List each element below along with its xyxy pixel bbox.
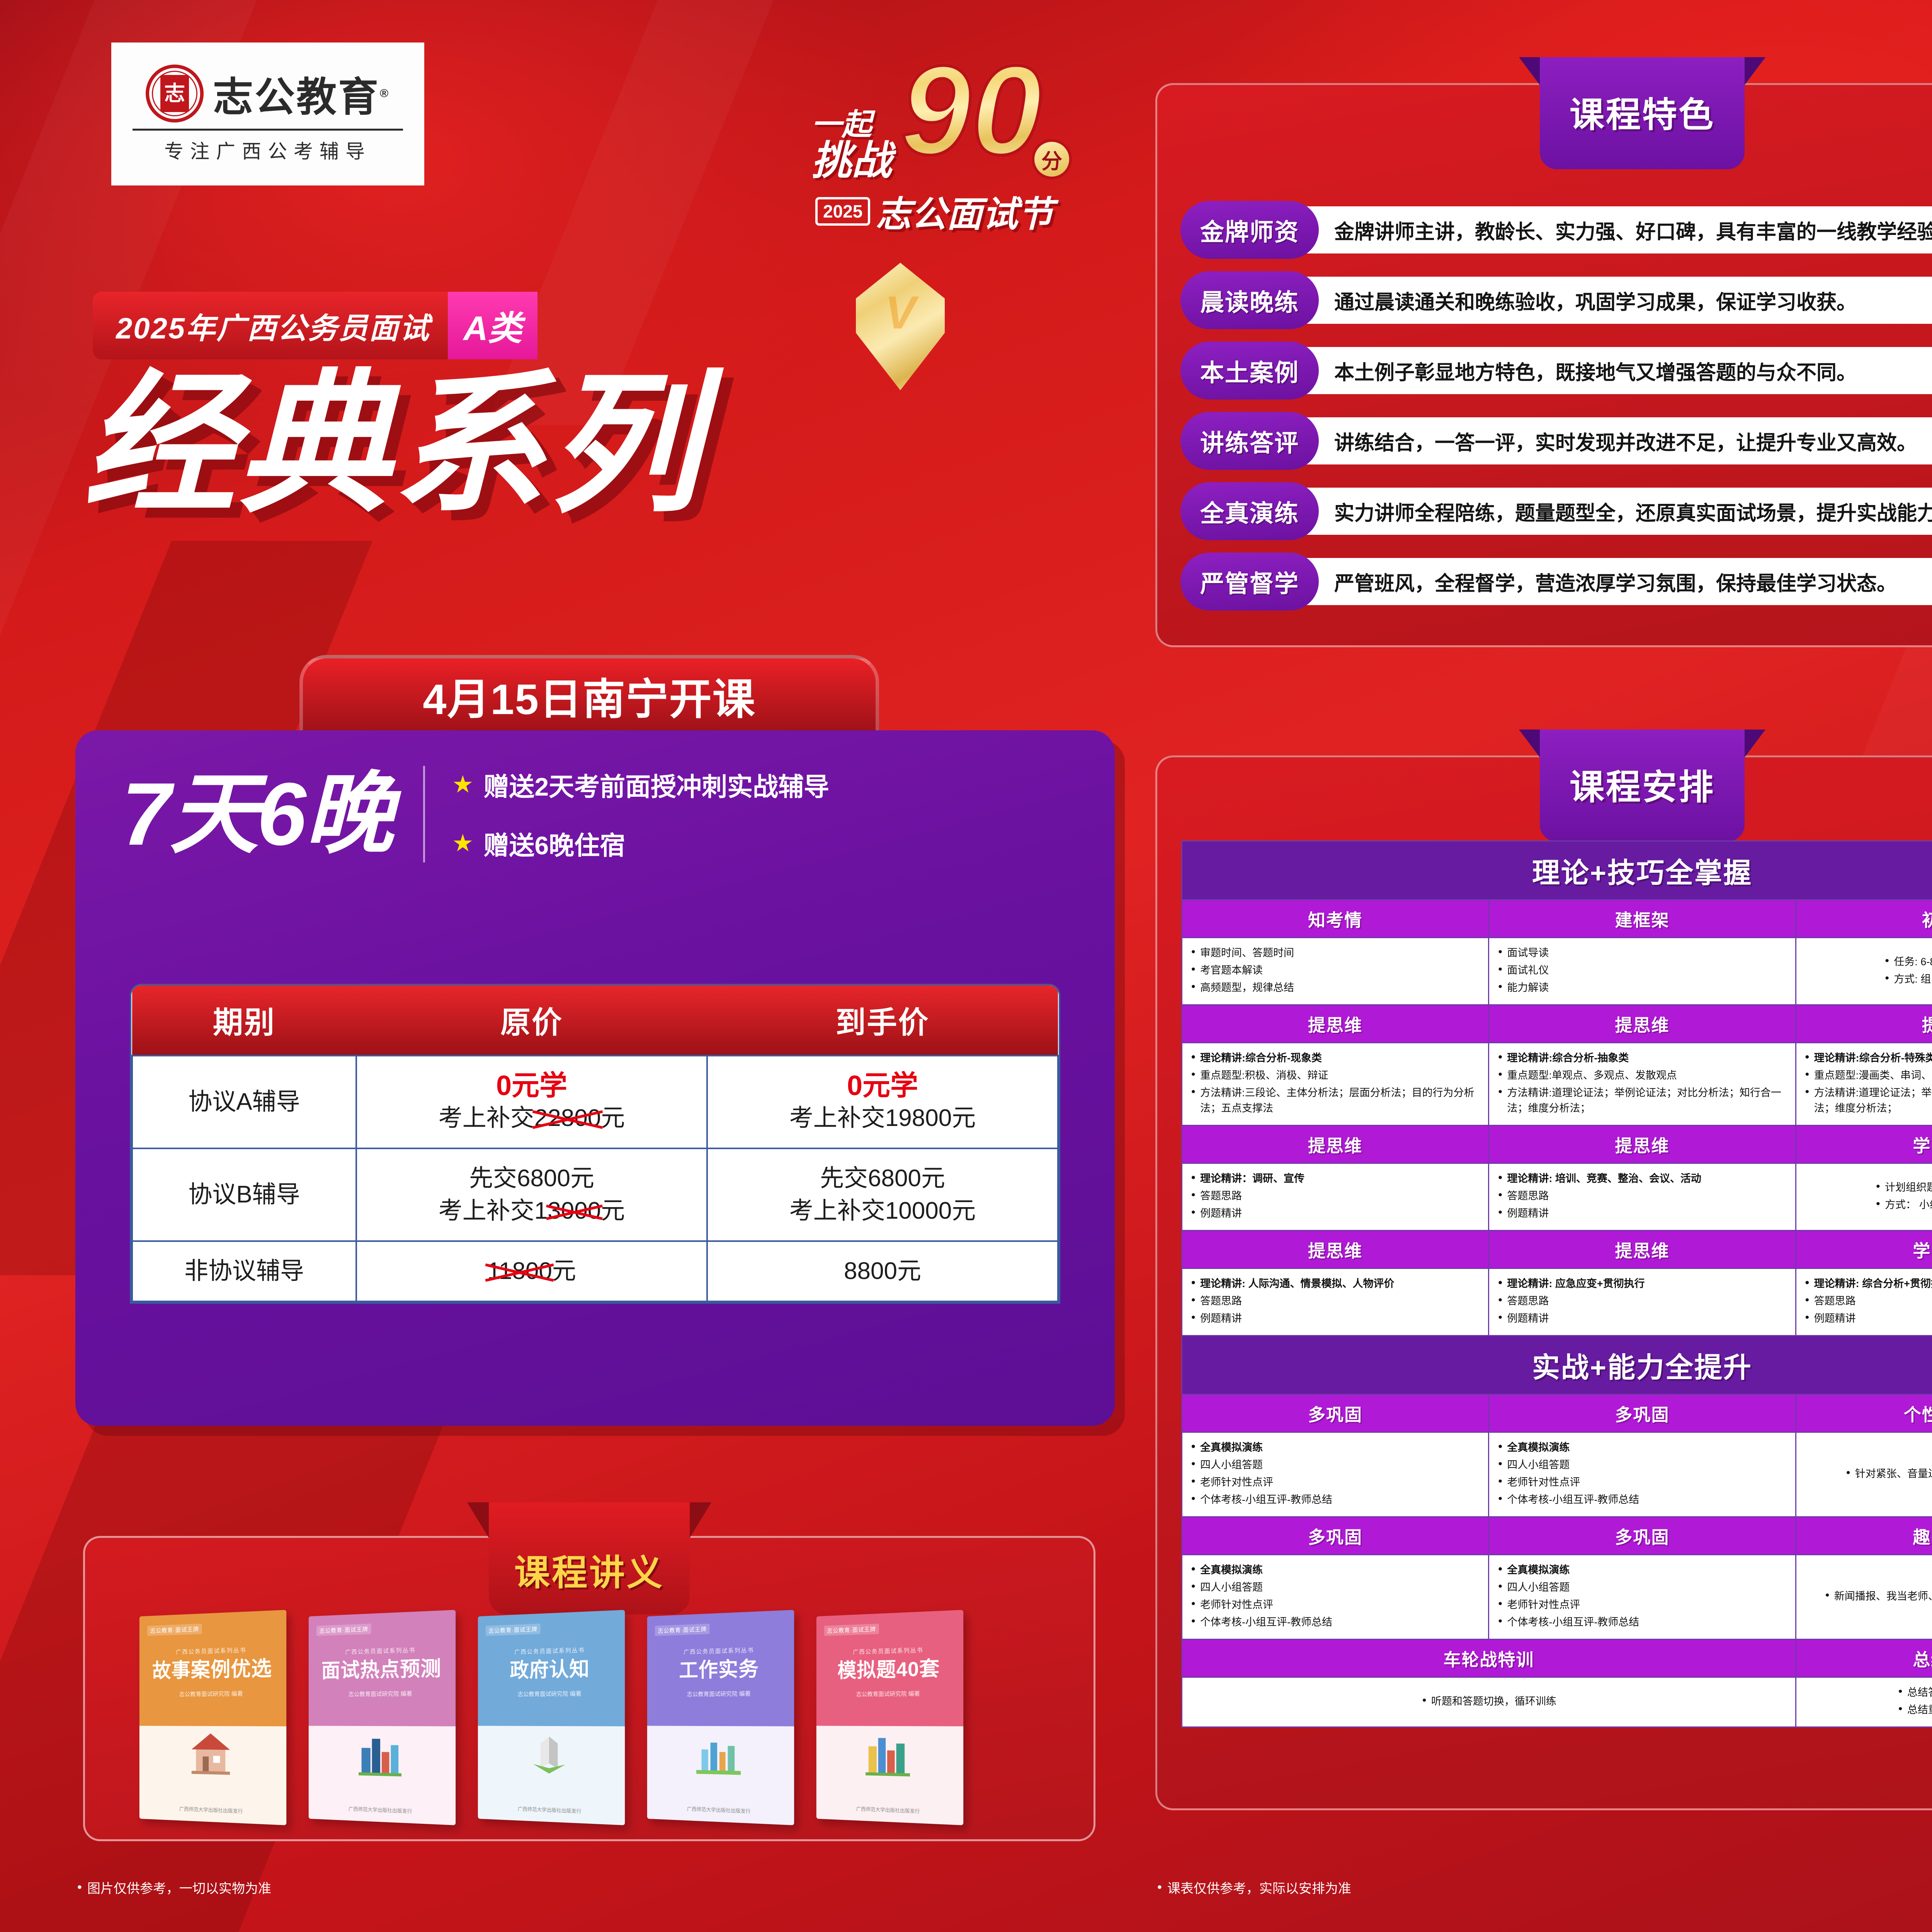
table-row: 协议A辅导 0元学 考上补交22800元 0元学 考上补交19800元 bbox=[132, 1056, 1058, 1148]
schedule-head-row: 多巩固多巩固趣味训练 bbox=[1182, 1517, 1932, 1555]
schedule-bullet: 听题和答题切换，循环训练 bbox=[1421, 1694, 1556, 1709]
bullet-list: 理论精讲:综合分析-特殊类、自我认知重点题型:漫画类、串词、演讲等方法精讲:道理… bbox=[1804, 1050, 1932, 1116]
course-features-tab: 课程特色 bbox=[1540, 57, 1745, 169]
badge-score-number: 90 bbox=[900, 46, 1042, 174]
feature-text: 本土例子彰显地方特色，既接地气又增强答题的与众不同。 bbox=[1334, 356, 1857, 385]
footer-left-text: 图片仅供参考，一切以实物为准 bbox=[87, 1878, 271, 1897]
book-eyebrow: 广西公务员面试系列丛书 bbox=[316, 1645, 447, 1657]
bullet-list: 任务: 6-8道方式: 组内答题，老师讲解 bbox=[1884, 954, 1932, 989]
schedule-bullet: 重点题型:单观点、多观点、发散观点 bbox=[1497, 1068, 1787, 1083]
logo-seal-char: 志 bbox=[160, 75, 189, 112]
feature-tag: 晨读晚练 bbox=[1180, 271, 1319, 329]
bullet-list: 审题时间、答题时间考官题本解读高频题型，规律总结 bbox=[1190, 945, 1480, 995]
schedule-bullet: 四人小组答题 bbox=[1190, 1457, 1480, 1473]
schedule-bullet: 理论精讲: 人际沟通、情景模拟、人物评价 bbox=[1190, 1276, 1480, 1291]
book-eyebrow: 广西公务员面试系列丛书 bbox=[655, 1645, 785, 1657]
feature-row: 晨读晚练通过晨读通关和晚练验收，巩固学习成果，保证学习收获。 bbox=[1180, 271, 1932, 329]
cell-final-price: 8800元 bbox=[707, 1241, 1058, 1301]
bullet-list: 面试导读面试礼仪能力解读 bbox=[1497, 945, 1787, 995]
package-duration: 7天6晚 bbox=[122, 770, 392, 859]
book-byline: 志公教育面试研究院 编著 bbox=[486, 1689, 616, 1698]
schedule-col-head: 个性化训练 bbox=[1796, 1395, 1932, 1432]
divider bbox=[423, 766, 425, 862]
feature-body: 通过晨读通关和晚练验收，巩固学习成果，保证学习收获。 bbox=[1296, 277, 1932, 324]
schedule-bullet: 老师针对性点评 bbox=[1190, 1475, 1480, 1490]
schedule-cell: 理论精讲: 综合分析+贯彻执行答题思路例题精讲 bbox=[1796, 1269, 1932, 1336]
bullet-list: 理论精讲:综合分析-现象类重点题型:积极、消极、辩证方法精讲:三段论、主体分析法… bbox=[1190, 1050, 1480, 1116]
schedule-bullet: 例题精讲 bbox=[1190, 1206, 1480, 1221]
feature-tag-label: 晨读晚练 bbox=[1200, 283, 1299, 318]
schedule-col-head: 知考情 bbox=[1182, 900, 1489, 938]
feature-tag-label: 讲练答评 bbox=[1200, 423, 1299, 458]
zero-badge: 0元学 bbox=[714, 1070, 1051, 1102]
bullet-list: 全真模拟演练四人小组答题老师针对性点评个体考核-小组互评-教师总结 bbox=[1190, 1562, 1480, 1630]
schedule-col-head: 提思维 bbox=[1182, 1005, 1489, 1043]
price-unit: 元 bbox=[601, 1105, 625, 1131]
bonus-label: 赠送2天考前面授冲刺实战辅导 bbox=[483, 766, 829, 803]
schedule-bullet: 四人小组答题 bbox=[1190, 1580, 1480, 1595]
badge-year: 2025 bbox=[815, 197, 870, 226]
schedule-col-head: 多巩固 bbox=[1182, 1395, 1489, 1432]
campaign-badge: 一起 挑战 90 分 2025 志公面试节 bbox=[804, 43, 1097, 232]
book-publisher: 广西师范大学出版社出版发行 bbox=[816, 1803, 963, 1816]
book-brand-logo: 志公教育·面试王牌 bbox=[655, 1624, 710, 1636]
schedule-body-row: 理论精讲:综合分析-现象类重点题型:积极、消极、辩证方法精讲:三段论、主体分析法… bbox=[1182, 1043, 1932, 1126]
schedule-bullet: 任务: 6-8道 bbox=[1884, 954, 1932, 969]
course-materials-ribbon: 课程讲义 bbox=[489, 1502, 690, 1614]
schedule-bullet: 全真模拟演练 bbox=[1497, 1562, 1787, 1578]
feature-list: 金牌师资金牌讲师主讲，教龄长、实力强、好口碑，具有丰富的一线教学经验。晨读晚练通… bbox=[1180, 201, 1932, 611]
schedule-bullet: 答题思路 bbox=[1497, 1293, 1787, 1309]
logo-tagline: 专注广西公考辅导 bbox=[164, 136, 371, 164]
price-table: 期别 原价 到手价 协议A辅导 0元学 考上补交22800元 0元学 考上补交1… bbox=[131, 985, 1059, 1302]
feature-body: 严管班风，全程督学，营造浓厚学习氛围，保持最佳学习状态。 bbox=[1296, 558, 1932, 605]
book-eyebrow: 广西公务员面试系列丛书 bbox=[147, 1645, 277, 1657]
price-line1: 先交6800元 bbox=[363, 1162, 700, 1195]
col-header-original: 原价 bbox=[356, 985, 707, 1056]
bonus-label: 赠送6晚住宿 bbox=[483, 825, 625, 862]
feature-body: 实力讲师全程陪练，题量题型全，还原真实面试场景，提升实战能力。 bbox=[1296, 488, 1932, 535]
schedule-bullet: 答题思路 bbox=[1804, 1293, 1932, 1309]
schedule-bullet: 理论精讲: 综合分析+贯彻执行 bbox=[1804, 1276, 1932, 1291]
schedule-cell: 针对紧张、音量过小、怯场等个性问题训练 bbox=[1796, 1432, 1932, 1517]
table-row: 协议B辅导 先交6800元 考上补交13000元 先交6800元 考上补交100… bbox=[132, 1148, 1058, 1241]
schedule-body-row: 全真模拟演练四人小组答题老师针对性点评个体考核-小组互评-教师总结全真模拟演练四… bbox=[1182, 1555, 1932, 1639]
schedule-cell: 全真模拟演练四人小组答题老师针对性点评个体考核-小组互评-教师总结 bbox=[1182, 1432, 1489, 1517]
schedule-cell: 理论精讲:综合分析-现象类重点题型:积极、消极、辩证方法精讲:三段论、主体分析法… bbox=[1182, 1043, 1489, 1126]
price-note-prefix: 考上补交1 bbox=[439, 1197, 548, 1224]
book-byline: 志公教育面试研究院 编著 bbox=[824, 1689, 954, 1698]
schedule-bullet: 重点题型:漫画类、串词、演讲等 bbox=[1804, 1068, 1932, 1083]
schedule-bullet: 方式: 组内答题，老师讲解 bbox=[1884, 971, 1932, 987]
schedule-head-row: 提思维提思维学以致用 bbox=[1182, 1231, 1932, 1269]
book-publisher: 广西师范大学出版社出版发行 bbox=[478, 1803, 625, 1816]
bullet-list: 理论精讲：调研、宣传答题思路例题精讲 bbox=[1190, 1171, 1480, 1221]
schedule-bullet: 高频题型，规律总结 bbox=[1190, 980, 1480, 995]
schedule-bullet: 个体考核-小组互评-教师总结 bbox=[1497, 1614, 1787, 1630]
bullet-list: 理论精讲: 培训、竞赛、整治、会议、活动答题思路例题精讲 bbox=[1497, 1171, 1787, 1221]
schedule-bullet: 老师针对性点评 bbox=[1190, 1597, 1480, 1612]
footer-right-text: 课表仅供参考，实际以安排为准 bbox=[1167, 1878, 1351, 1897]
date-banner: 4月15日南宁开课 bbox=[299, 655, 879, 732]
feature-row: 讲练答评讲练结合，一答一评，实时发现并改进不足，让提升专业又高效。 bbox=[1180, 412, 1932, 470]
schedule-bullet: 例题精讲 bbox=[1497, 1206, 1787, 1221]
feature-text: 通过晨读通关和晚练验收，巩固学习成果，保证学习收获。 bbox=[1334, 286, 1857, 315]
book-publisher: 广西师范大学出版社出版发行 bbox=[309, 1803, 456, 1816]
final-note: 考上补交19800元 bbox=[789, 1105, 976, 1131]
book-eyebrow: 广西公务员面试系列丛书 bbox=[486, 1645, 616, 1657]
schedule-head-row: 知考情建框架初答题 bbox=[1182, 900, 1932, 938]
bullet-list: 全真模拟演练四人小组答题老师针对性点评个体考核-小组互评-教师总结 bbox=[1497, 1440, 1787, 1507]
schedule-bullet: 例题精讲 bbox=[1804, 1311, 1932, 1326]
book-item: 志公教育·面试王牌广西公务员面试系列丛书工作实务志公教育面试研究院 编著广西师范… bbox=[647, 1610, 794, 1825]
schedule-section-head-row: 理论+技巧全掌握 bbox=[1182, 841, 1932, 900]
book-cover-illustration-icon bbox=[355, 1728, 405, 1781]
schedule-bullet: 方法精讲:三段论、主体分析法；层面分析法；目的行为分析法；五点支撑法 bbox=[1190, 1085, 1480, 1116]
schedule-col-head: 多巩固 bbox=[1489, 1395, 1796, 1432]
schedule-col-head: 建框架 bbox=[1489, 900, 1796, 938]
zero-badge: 0元学 bbox=[363, 1070, 700, 1102]
row-label: 协议A辅导 bbox=[132, 1056, 356, 1148]
schedule-col-head: 提思维 bbox=[1182, 1231, 1489, 1269]
feature-row: 全真演练实力讲师全程陪练，题量题型全，还原真实面试场景，提升实战能力。 bbox=[1180, 482, 1932, 540]
book-publisher: 广西师范大学出版社出版发行 bbox=[647, 1803, 794, 1816]
bullet-icon: • bbox=[1157, 1880, 1162, 1895]
bullet-list: 新闻播报、我当老师、反串教学、绕口令等趣味训练 bbox=[1824, 1588, 1932, 1606]
course-materials-panel: 课程讲义 志公教育·面试王牌广西公务员面试系列丛书故事案例优选志公教育面试研究院… bbox=[83, 1536, 1095, 1841]
schedule-cell: 理论精讲：调研、宣传答题思路例题精讲 bbox=[1182, 1163, 1489, 1231]
schedule-bullet: 面试导读 bbox=[1497, 945, 1787, 961]
schedule-col-head: 总结提升 bbox=[1796, 1639, 1932, 1677]
row-label: 协议B辅导 bbox=[132, 1148, 356, 1241]
schedule-bullet: 能力解读 bbox=[1497, 980, 1787, 995]
schedule-cell: 理论精讲: 应急应变+贯彻执行答题思路例题精讲 bbox=[1489, 1269, 1796, 1336]
schedule-col-head: 提思维 bbox=[1489, 1231, 1796, 1269]
bullet-list: 理论精讲: 人际沟通、情景模拟、人物评价答题思路例题精讲 bbox=[1190, 1276, 1480, 1326]
feature-text: 严管班风，全程督学，营造浓厚学习氛围，保持最佳学习状态。 bbox=[1334, 567, 1897, 596]
feature-tag: 讲练答评 bbox=[1180, 412, 1319, 470]
feature-row: 本土案例本土例子彰显地方特色，既接地气又增强答题的与众不同。 bbox=[1180, 342, 1932, 400]
schedule-cell: 新闻播报、我当老师、反串教学、绕口令等趣味训练 bbox=[1796, 1555, 1932, 1639]
book-cover-illustration-icon bbox=[694, 1728, 743, 1781]
course-features-title: 课程特色 bbox=[1570, 87, 1715, 137]
schedule-bullet: 老师针对性点评 bbox=[1497, 1475, 1787, 1490]
book-item: 志公教育·面试王牌广西公务员面试系列丛书故事案例优选志公教育面试研究院 编著广西… bbox=[139, 1610, 286, 1825]
feature-tag: 全真演练 bbox=[1180, 482, 1319, 540]
schedule-col-head: 学以致用 bbox=[1796, 1126, 1932, 1163]
schedule-bullet: 个体考核-小组互评-教师总结 bbox=[1190, 1614, 1480, 1630]
schedule-bullet: 老师针对性点评 bbox=[1497, 1597, 1787, 1612]
struck-amount: 11800 bbox=[487, 1255, 552, 1287]
list-item: ★ 赠送6晚住宿 bbox=[452, 825, 829, 862]
schedule-col-head: 提思维 bbox=[1489, 1126, 1796, 1163]
book-brand-logo: 志公教育·面试王牌 bbox=[316, 1624, 371, 1636]
price-unit: 元 bbox=[601, 1197, 625, 1224]
feature-text: 讲练结合，一答一评，实时发现并改进不足，让提升专业又高效。 bbox=[1334, 427, 1917, 456]
feature-text: 实力讲师全程陪练，题量题型全，还原真实面试场景，提升实战能力。 bbox=[1334, 497, 1932, 526]
book-cover-illustration-icon bbox=[525, 1728, 574, 1781]
feature-text: 金牌讲师主讲，教龄长、实力强、好口碑，具有丰富的一线教学经验。 bbox=[1334, 216, 1932, 245]
bullet-list: 理论精讲: 应急应变+贯彻执行答题思路例题精讲 bbox=[1497, 1276, 1787, 1326]
col-header-final: 到手价 bbox=[707, 985, 1058, 1056]
schedule-body-row: 审题时间、答题时间考官题本解读高频题型，规律总结面试导读面试礼仪能力解读任务: … bbox=[1182, 938, 1932, 1005]
schedule-bullet: 理论精讲:综合分析-现象类 bbox=[1190, 1050, 1480, 1066]
table-header-row: 期别 原价 到手价 bbox=[132, 985, 1058, 1056]
schedule-bullet: 四人小组答题 bbox=[1497, 1457, 1787, 1473]
bullet-list: 针对紧张、音量过小、怯场等个性问题训练 bbox=[1845, 1466, 1932, 1483]
book-title: 面试热点预测 bbox=[316, 1657, 447, 1682]
star-icon: ★ bbox=[452, 773, 474, 797]
feature-tag: 金牌师资 bbox=[1180, 201, 1319, 259]
bullet-list: 听题和答题切换，循环训练 bbox=[1421, 1694, 1556, 1711]
price-unit: 元 bbox=[552, 1258, 576, 1284]
feature-row: 严管督学严管班风，全程督学，营造浓厚学习氛围，保持最佳学习状态。 bbox=[1180, 553, 1932, 611]
cell-final-price: 0元学 考上补交19800元 bbox=[707, 1056, 1058, 1148]
schedule-section-title: 实战+能力全提升 bbox=[1182, 1336, 1932, 1395]
schedule-cell: 任务: 6-8道方式: 组内答题，老师讲解 bbox=[1796, 938, 1932, 1005]
book-title: 工作实务 bbox=[655, 1657, 785, 1682]
schedule-bullet: 新闻播报、我当老师、反串教学、绕口令等趣味训练 bbox=[1824, 1588, 1932, 1604]
feature-tag: 严管督学 bbox=[1180, 553, 1319, 611]
schedule-cell: 总结答题思路总结重难点，易错点 bbox=[1796, 1677, 1932, 1727]
final-line1: 先交6800元 bbox=[714, 1162, 1051, 1195]
schedule-bullet: 理论精讲: 应急应变+贯彻执行 bbox=[1497, 1276, 1787, 1291]
cell-original-price: 先交6800元 考上补交13000元 bbox=[356, 1148, 707, 1241]
schedule-cell: 计划组织题方式： 小组内答题后老师讲解 bbox=[1796, 1163, 1932, 1231]
schedule-bullet: 计划组织题 bbox=[1875, 1180, 1932, 1195]
book-publisher: 广西师范大学出版社出版发行 bbox=[139, 1803, 286, 1816]
schedule-bullet: 针对紧张、音量过小、怯场等个性问题训练 bbox=[1845, 1466, 1932, 1481]
price-note-prefix: 考上补交 bbox=[439, 1105, 534, 1131]
book-brand-logo: 志公教育·面试王牌 bbox=[147, 1624, 202, 1636]
schedule-col-head: 提思维 bbox=[1182, 1126, 1489, 1163]
book-title: 故事案例优选 bbox=[147, 1657, 277, 1682]
feature-row: 金牌师资金牌讲师主讲，教龄长、实力强、好口碑，具有丰富的一线教学经验。 bbox=[1180, 201, 1932, 259]
package-price-card: 7天6晚 ★ 赠送2天考前面授冲刺实战辅导 ★ 赠送6晚住宿 期别 原价 到手价… bbox=[75, 730, 1115, 1426]
hero-subtitle-bar: 2025年广西公务员面试 bbox=[93, 292, 448, 359]
schedule-cell: 理论精讲:综合分析-特殊类、自我认知重点题型:漫画类、串词、演讲等方法精讲:道理… bbox=[1796, 1043, 1932, 1126]
schedule-bullet: 全真模拟演练 bbox=[1497, 1440, 1787, 1455]
schedule-bullet: 理论精讲：调研、宣传 bbox=[1190, 1171, 1480, 1186]
schedule-body-row: 理论精讲：调研、宣传答题思路例题精讲理论精讲: 培训、竞赛、整治、会议、活动答题… bbox=[1182, 1163, 1932, 1231]
schedule-bullet: 答题思路 bbox=[1190, 1293, 1480, 1309]
schedule-section-title: 理论+技巧全掌握 bbox=[1182, 841, 1932, 900]
schedule-body-row: 理论精讲: 人际沟通、情景模拟、人物评价答题思路例题精讲理论精讲: 应急应变+贯… bbox=[1182, 1269, 1932, 1336]
book-byline: 志公教育面试研究院 编著 bbox=[316, 1689, 447, 1698]
schedule-cell: 理论精讲: 人际沟通、情景模拟、人物评价答题思路例题精讲 bbox=[1182, 1269, 1489, 1336]
feature-body: 金牌讲师主讲，教龄长、实力强、好口碑，具有丰富的一线教学经验。 bbox=[1296, 206, 1932, 253]
schedule-cell: 审题时间、答题时间考官题本解读高频题型，规律总结 bbox=[1182, 938, 1489, 1005]
feature-tag-label: 全真演练 bbox=[1200, 494, 1299, 529]
hero-subtitle-group: 2025年广西公务员面试 A类 bbox=[93, 292, 537, 359]
col-header-period: 期别 bbox=[132, 985, 356, 1056]
feature-body: 讲练结合，一答一评，实时发现并改进不足，让提升专业又高效。 bbox=[1296, 417, 1932, 464]
logo-divider bbox=[133, 129, 403, 131]
registered-mark-icon: ® bbox=[380, 87, 390, 100]
bullet-list: 全真模拟演练四人小组答题老师针对性点评个体考核-小组互评-教师总结 bbox=[1497, 1562, 1787, 1630]
star-icon: ★ bbox=[452, 832, 474, 855]
date-banner-text: 4月15日南宁开课 bbox=[423, 665, 756, 726]
bonus-list: ★ 赠送2天考前面授冲刺实战辅导 ★ 赠送6晚住宿 bbox=[452, 766, 829, 862]
schedule-bullet: 四人小组答题 bbox=[1497, 1580, 1787, 1595]
feature-tag-label: 金牌师资 bbox=[1200, 213, 1299, 247]
row-label: 非协议辅导 bbox=[132, 1241, 356, 1301]
book-list: 志公教育·面试王牌广西公务员面试系列丛书故事案例优选志公教育面试研究院 编著广西… bbox=[135, 1613, 963, 1822]
badge-festival-name: 志公面试节 bbox=[876, 185, 1053, 237]
schedule-bullet: 重点题型:积极、消极、辩证 bbox=[1190, 1068, 1480, 1083]
schedule-bullet: 审题时间、答题时间 bbox=[1190, 945, 1480, 961]
book-brand-logo: 志公教育·面试王牌 bbox=[824, 1624, 879, 1636]
schedule-cell: 面试导读面试礼仪能力解读 bbox=[1489, 938, 1796, 1005]
schedule-bullet: 全真模拟演练 bbox=[1190, 1440, 1480, 1455]
schedule-table: 理论+技巧全掌握知考情建框架初答题审题时间、答题时间考官题本解读高频题型，规律总… bbox=[1181, 840, 1932, 1728]
feature-tag-label: 本土案例 bbox=[1200, 353, 1299, 388]
struck-amount: 22800 bbox=[534, 1102, 601, 1134]
schedule-bullet: 面试礼仪 bbox=[1497, 963, 1787, 978]
course-features-panel: 课程特色 金牌师资金牌讲师主讲，教龄长、实力强、好口碑，具有丰富的一线教学经验。… bbox=[1155, 83, 1932, 647]
schedule-bullet: 理论精讲:综合分析-抽象类 bbox=[1497, 1050, 1787, 1066]
course-schedule-title: 课程安排 bbox=[1570, 759, 1715, 809]
schedule-bullet: 理论精讲:综合分析-特殊类、自我认知 bbox=[1804, 1050, 1932, 1066]
bullet-list: 理论精讲: 综合分析+贯彻执行答题思路例题精讲 bbox=[1804, 1276, 1932, 1326]
schedule-cell: 理论精讲:综合分析-抽象类重点题型:单观点、多观点、发散观点方法精讲:道理论证法… bbox=[1489, 1043, 1796, 1126]
schedule-col-head: 多巩固 bbox=[1489, 1517, 1796, 1555]
schedule-bullet: 方式： 小组内答题后老师讲解 bbox=[1875, 1197, 1932, 1213]
schedule-head-row: 提思维提思维提思维 bbox=[1182, 1005, 1932, 1043]
schedule-cell: 全真模拟演练四人小组答题老师针对性点评个体考核-小组互评-教师总结 bbox=[1489, 1432, 1796, 1517]
cell-original-price: 0元学 考上补交22800元 bbox=[356, 1056, 707, 1148]
bullet-list: 计划组织题方式： 小组内答题后老师讲解 bbox=[1875, 1180, 1932, 1214]
hero-category-tag: A类 bbox=[448, 292, 537, 359]
schedule-cell: 理论精讲: 培训、竞赛、整治、会议、活动答题思路例题精讲 bbox=[1489, 1163, 1796, 1231]
schedule-cell: 听题和答题切换，循环训练 bbox=[1182, 1677, 1796, 1727]
cell-final-price: 先交6800元 考上补交10000元 bbox=[707, 1148, 1058, 1241]
schedule-col-head: 初答题 bbox=[1796, 900, 1932, 938]
schedule-bullet: 个体考核-小组互评-教师总结 bbox=[1190, 1492, 1480, 1507]
bullet-list: 理论精讲:综合分析-抽象类重点题型:单观点、多观点、发散观点方法精讲:道理论证法… bbox=[1497, 1050, 1787, 1116]
footer-note-right: • 课表仅供参考，实际以安排为准 bbox=[1157, 1878, 1351, 1897]
schedule-bullet: 全真模拟演练 bbox=[1190, 1562, 1480, 1578]
badge-score-unit: 分 bbox=[1032, 139, 1072, 179]
bullet-list: 总结答题思路总结重难点，易错点 bbox=[1897, 1685, 1932, 1719]
schedule-section-head-row: 实战+能力全提升 bbox=[1182, 1336, 1932, 1395]
hero-category-label: A类 bbox=[463, 301, 522, 350]
schedule-bullet: 答题思路 bbox=[1190, 1188, 1480, 1204]
final-line2: 考上补交10000元 bbox=[714, 1195, 1051, 1227]
schedule-bullet: 考官题本解读 bbox=[1190, 963, 1480, 978]
schedule-col-head: 趣味训练 bbox=[1796, 1517, 1932, 1555]
course-materials-title: 课程讲义 bbox=[514, 1544, 664, 1595]
struck-amount: 3000 bbox=[548, 1195, 601, 1227]
logo-name: 志公教育® bbox=[213, 64, 390, 122]
bullet-list: 全真模拟演练四人小组答题老师针对性点评个体考核-小组互评-教师总结 bbox=[1190, 1440, 1480, 1507]
schedule-bullet: 理论精讲: 培训、竞赛、整治、会议、活动 bbox=[1497, 1171, 1787, 1186]
book-brand-logo: 志公教育·面试王牌 bbox=[486, 1624, 541, 1636]
schedule-cell: 全真模拟演练四人小组答题老师针对性点评个体考核-小组互评-教师总结 bbox=[1182, 1555, 1489, 1639]
book-item: 志公教育·面试王牌广西公务员面试系列丛书面试热点预测志公教育面试研究院 编著广西… bbox=[309, 1610, 456, 1825]
book-eyebrow: 广西公务员面试系列丛书 bbox=[824, 1645, 954, 1657]
hero-subtitle: 2025年广西公务员面试 bbox=[116, 304, 430, 347]
book-byline: 志公教育面试研究院 编著 bbox=[655, 1689, 785, 1698]
page-title: 经典系列 bbox=[83, 367, 703, 522]
schedule-bullet: 方法精讲:道理论证法；举例论证法；对比分析法；知行合一法；维度分析法； bbox=[1804, 1085, 1932, 1116]
schedule-cell: 全真模拟演练四人小组答题老师针对性点评个体考核-小组互评-教师总结 bbox=[1489, 1555, 1796, 1639]
book-cover-illustration-icon bbox=[186, 1728, 235, 1781]
schedule-bullet: 方法精讲:道理论证法；举例论证法；对比分析法；知行合一法；维度分析法； bbox=[1497, 1085, 1787, 1116]
table-row: 非协议辅导 11800元 8800元 bbox=[132, 1241, 1058, 1301]
list-item: ★ 赠送2天考前面授冲刺实战辅导 bbox=[452, 766, 829, 803]
book-byline: 志公教育面试研究院 编著 bbox=[147, 1689, 277, 1698]
schedule-bullet: 总结重难点，易错点 bbox=[1897, 1702, 1932, 1718]
logo-seal-icon: 志 bbox=[146, 65, 204, 122]
schedule-body-row: 全真模拟演练四人小组答题老师针对性点评个体考核-小组互评-教师总结全真模拟演练四… bbox=[1182, 1432, 1932, 1517]
book-cover-illustration-icon bbox=[863, 1728, 912, 1781]
brand-logo: 志 志公教育® 专注广西公考辅导 bbox=[111, 43, 424, 185]
schedule-head-row: 车轮战特训总结提升 bbox=[1182, 1639, 1932, 1677]
schedule-head-row: 提思维提思维学以致用 bbox=[1182, 1126, 1932, 1163]
schedule-col-head: 提思维 bbox=[1796, 1005, 1932, 1043]
schedule-bullet: 个体考核-小组互评-教师总结 bbox=[1497, 1492, 1787, 1507]
schedule-col-head: 学以致用 bbox=[1796, 1231, 1932, 1269]
book-title: 政府认知 bbox=[486, 1657, 616, 1682]
cell-original-price: 11800元 bbox=[356, 1241, 707, 1301]
book-title: 模拟题40套 bbox=[824, 1657, 954, 1682]
schedule-body-row: 听题和答题切换，循环训练总结答题思路总结重难点，易错点 bbox=[1182, 1677, 1932, 1727]
schedule-bullet: 答题思路 bbox=[1497, 1188, 1787, 1204]
feature-tag-label: 严管督学 bbox=[1200, 564, 1299, 599]
feature-body: 本土例子彰显地方特色，既接地气又增强答题的与众不同。 bbox=[1296, 347, 1932, 394]
schedule-col-head: 车轮战特训 bbox=[1182, 1639, 1796, 1677]
book-item: 志公教育·面试王牌广西公务员面试系列丛书模拟题40套志公教育面试研究院 编著广西… bbox=[816, 1610, 963, 1825]
bullet-icon: • bbox=[77, 1880, 82, 1895]
course-schedule-tab: 课程安排 bbox=[1540, 730, 1745, 842]
schedule-bullet: 总结答题思路 bbox=[1897, 1685, 1932, 1700]
schedule-col-head: 提思维 bbox=[1489, 1005, 1796, 1043]
book-item: 志公教育·面试王牌广西公务员面试系列丛书政府认知志公教育面试研究院 编著广西师范… bbox=[478, 1610, 625, 1825]
schedule-bullet: 例题精讲 bbox=[1497, 1311, 1787, 1326]
course-schedule-panel: 课程安排 理论+技巧全掌握知考情建框架初答题审题时间、答题时间考官题本解读高频题… bbox=[1155, 755, 1932, 1810]
footer-note-left: • 图片仅供参考，一切以实物为准 bbox=[77, 1878, 271, 1897]
feature-tag: 本土案例 bbox=[1180, 342, 1319, 400]
schedule-head-row: 多巩固多巩固个性化训练 bbox=[1182, 1395, 1932, 1432]
schedule-bullet: 例题精讲 bbox=[1190, 1311, 1480, 1326]
schedule-col-head: 多巩固 bbox=[1182, 1517, 1489, 1555]
